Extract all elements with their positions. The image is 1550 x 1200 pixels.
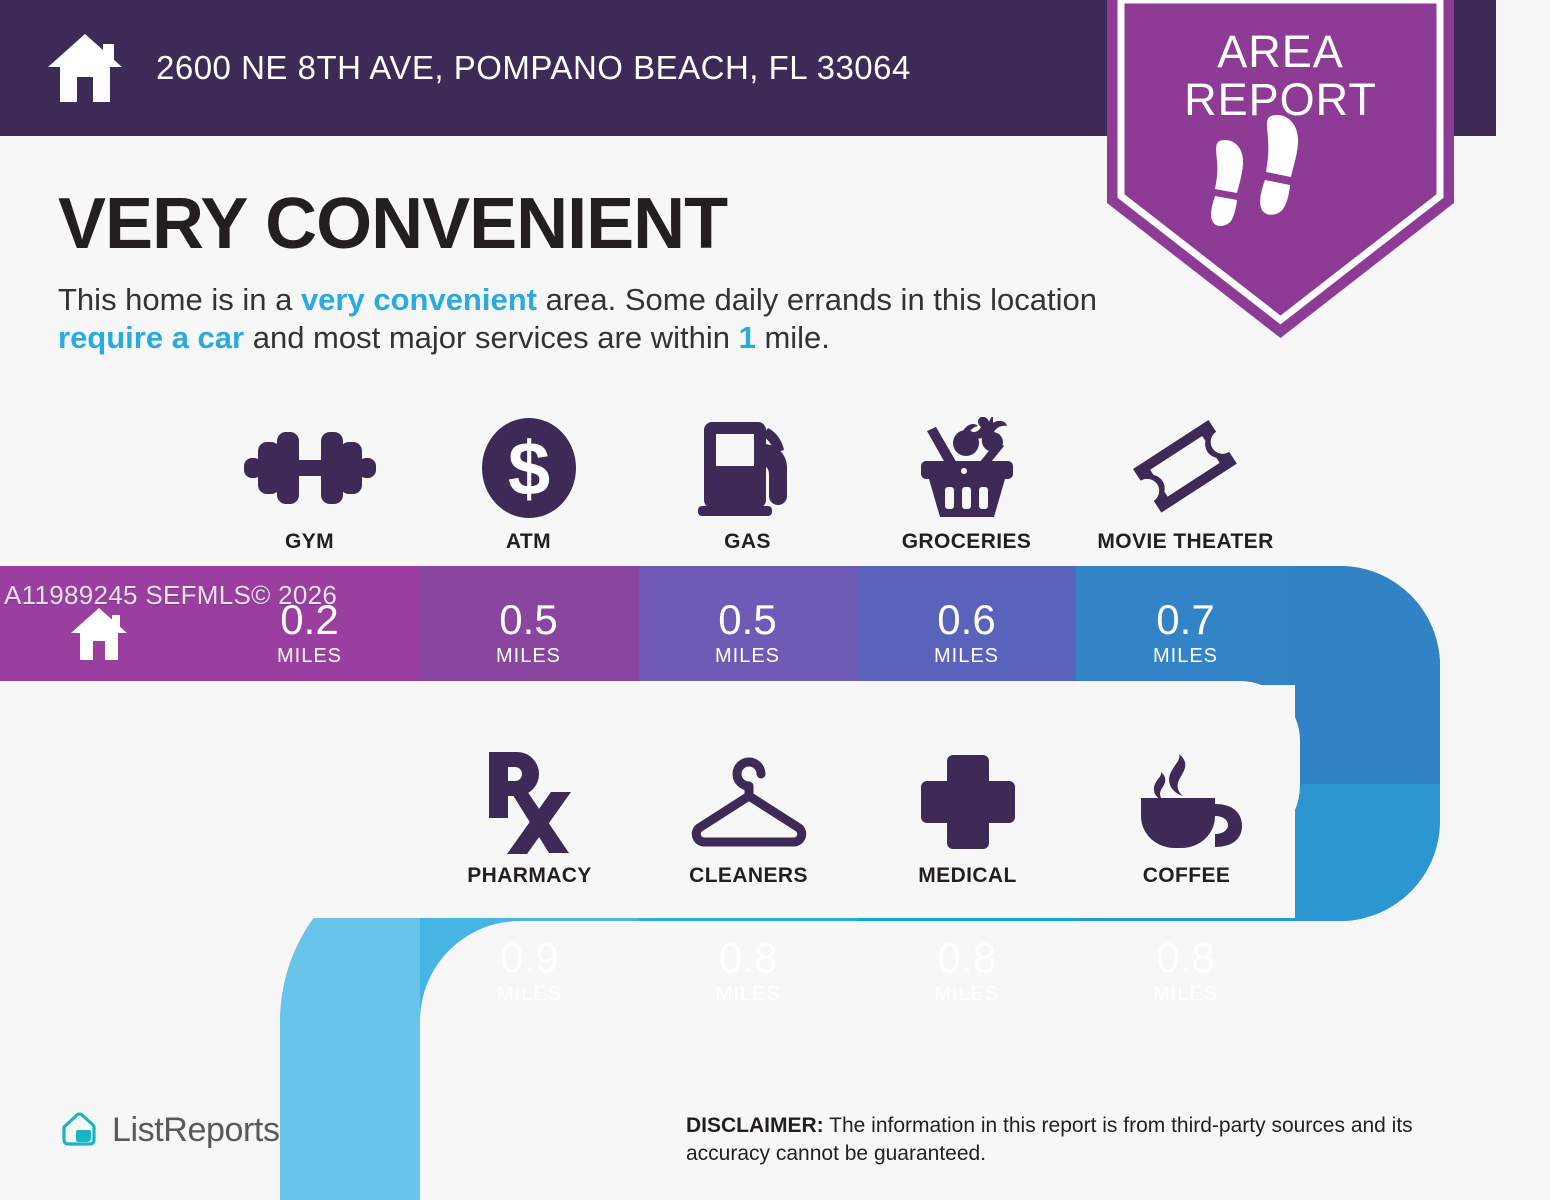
- summary-part-2: area. Some daily errands in this locatio…: [537, 282, 1097, 317]
- listreports-logo[interactable]: ListReports: [58, 1110, 280, 1150]
- amenity-label: PHARMACY: [467, 864, 592, 888]
- amenity-movie-theater: MOVIE THEATER: [1076, 418, 1295, 554]
- gas-pump-icon: [696, 418, 800, 518]
- dumbbell-icon: [244, 418, 376, 518]
- property-address: 2600 NE 8TH AVE, POMPANO BEACH, FL 33064: [156, 49, 911, 87]
- summary-part-1: This home is in a: [58, 282, 301, 317]
- disclaimer-label: DISCLAIMER:: [686, 1114, 824, 1137]
- amenity-cleaners: CLEANERS: [639, 752, 858, 888]
- medical-cross-icon: [919, 752, 1017, 852]
- summary-highlight-1: very convenient: [301, 282, 537, 317]
- summary-highlight-2: require a car: [58, 320, 244, 355]
- amenity-medical: MEDICAL: [858, 752, 1077, 888]
- summary-text: This home is in a very convenient area. …: [58, 281, 1098, 357]
- amenity-label: GYM: [285, 530, 334, 554]
- amenity-label: MOVIE THEATER: [1097, 530, 1273, 554]
- amenity-label: ATM: [506, 530, 551, 554]
- amenity-gym: GYM: [200, 418, 419, 554]
- ticket-icon: [1133, 418, 1239, 518]
- area-report-badge: AREA REPORT: [1107, 0, 1454, 338]
- amenity-label: GROCERIES: [902, 530, 1032, 554]
- hanger-icon: [687, 752, 811, 852]
- amenity-gas: GAS: [638, 418, 857, 554]
- area-report-page: 2600 NE 8TH AVE, POMPANO BEACH, FL 33064…: [0, 0, 1550, 1200]
- dollar-circle-icon: $: [479, 418, 579, 518]
- snake-home-icon: [70, 607, 128, 661]
- mls-watermark: A11989245 SEFMLS© 2026: [4, 580, 337, 611]
- amenity-pharmacy: PHARMACY: [420, 752, 639, 888]
- listreports-house-icon: [58, 1110, 98, 1150]
- amenity-icon-row-1: GYM $ ATM: [200, 418, 1495, 554]
- svg-text:$: $: [507, 427, 549, 512]
- amenity-coffee: COFFEE: [1077, 752, 1296, 888]
- amenity-label: CLEANERS: [689, 864, 808, 888]
- amenity-label: COFFEE: [1143, 864, 1231, 888]
- coffee-cup-icon: [1131, 752, 1243, 852]
- amenity-label: GAS: [724, 530, 771, 554]
- amenity-groceries: GROCERIES: [857, 418, 1076, 554]
- rx-icon: [485, 752, 575, 852]
- amenity-label: MEDICAL: [918, 864, 1016, 888]
- listreports-wordmark: ListReports: [112, 1111, 280, 1150]
- grocery-basket-icon: [915, 418, 1019, 518]
- summary-part-3: and most major services are within: [244, 320, 738, 355]
- amenity-atm: $ ATM: [419, 418, 638, 554]
- summary-part-4: mile.: [756, 320, 830, 355]
- home-icon: [46, 32, 124, 104]
- summary-highlight-3: 1: [739, 320, 756, 355]
- page-title: VERY CONVENIENT: [58, 186, 727, 262]
- disclaimer: DISCLAIMER: The information in this repo…: [686, 1112, 1496, 1168]
- amenity-icon-row-2: PHARMACY CLEANERS MEDICAL: [420, 752, 1495, 888]
